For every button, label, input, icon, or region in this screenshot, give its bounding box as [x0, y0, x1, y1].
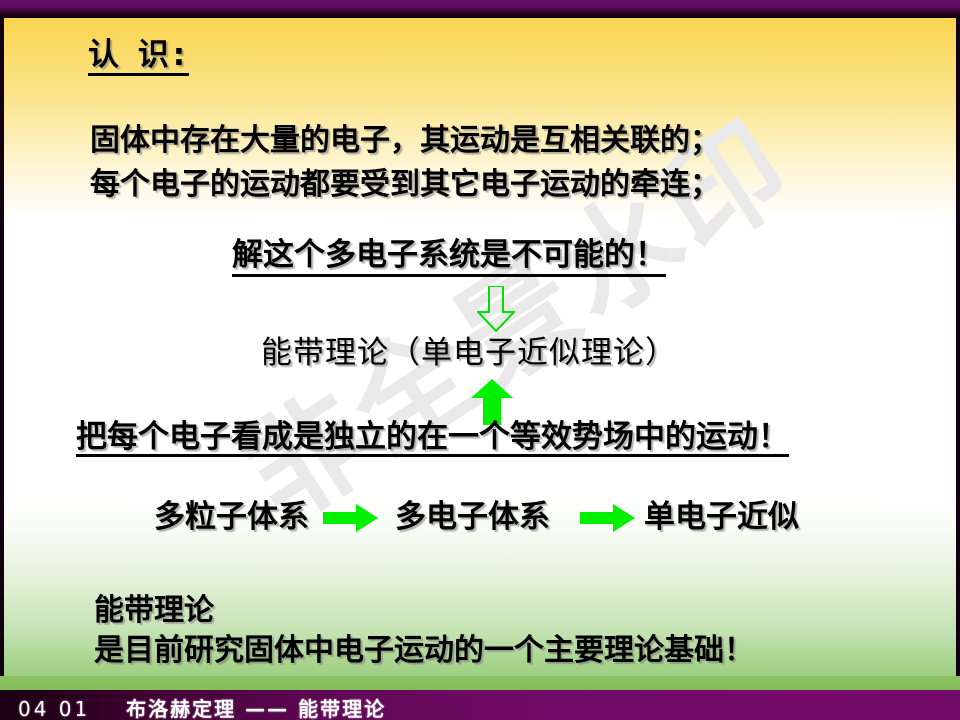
slide-canvas: 非全景水印 认 识: 固体中存在大量的电子，其运动是互相关联的； 每个电子的运动… — [0, 0, 960, 720]
arrow-right-icon-2 — [580, 503, 636, 533]
arrow-right-icon-1 — [323, 503, 379, 533]
page-title: 认 识: — [88, 40, 189, 76]
footer-title: 布洛赫定理 —— 能带理论 — [126, 697, 386, 720]
conclusion-line-2: 是目前研究固体中电子运动的一个主要理论基础！ — [94, 636, 754, 666]
arrow-down-icon — [477, 286, 515, 332]
impossible-statement: 解这个多电子系统是不可能的！ — [232, 240, 666, 271]
chain-step-1: 多粒子体系 — [154, 502, 309, 533]
intro-line-1: 固体中存在大量的电子，其运动是互相关联的； — [90, 126, 720, 156]
band-theory-line: 能带理论（单电子近似理论） — [261, 338, 677, 369]
left-edge-border — [0, 18, 4, 683]
footer-green-strip — [0, 676, 960, 690]
intro-line-2: 每个电子的运动都要受到其它电子运动的牵连； — [90, 170, 720, 200]
top-header-bar — [0, 0, 960, 18]
independent-electron-line: 把每个电子看成是独立的在一个等效势场中的运动！ — [76, 422, 789, 457]
footer-label: 04 01 布洛赫定理 —— 能带理论 — [18, 693, 386, 720]
chain-step-3: 单电子近似 — [644, 502, 799, 533]
conclusion-line-1: 能带理论 — [94, 596, 214, 626]
impossible-statement-text: 解这个多电子系统是不可能的！ — [232, 237, 666, 277]
chain-step-2: 多电子体系 — [395, 502, 550, 533]
right-edge-border — [956, 18, 960, 683]
chain-diagram: 多粒子体系 多电子体系 单电子近似 — [154, 502, 799, 533]
slide-content: 认 识: 固体中存在大量的电子，其运动是互相关联的； 每个电子的运动都要受到其它… — [4, 18, 956, 683]
footer-number: 04 01 — [18, 697, 90, 720]
